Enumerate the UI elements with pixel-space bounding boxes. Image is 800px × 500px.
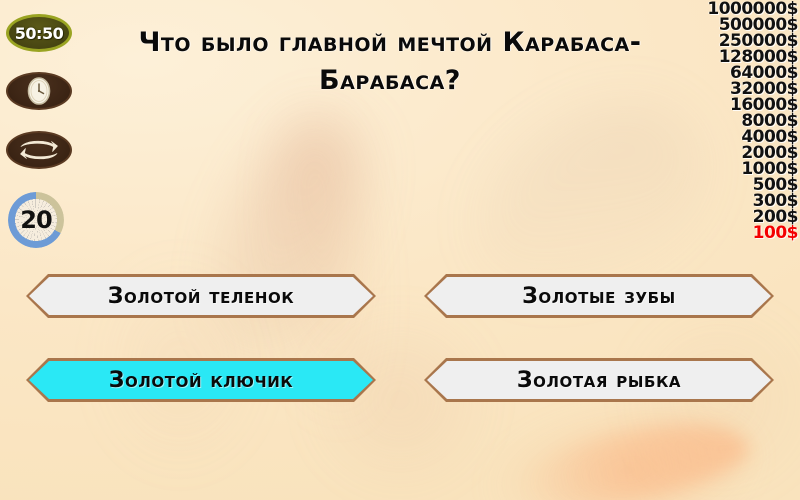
background-swirl (194, 98, 385, 373)
answer-option-a[interactable]: Золотой теленок (26, 274, 376, 318)
answer-option-c[interactable]: Золотой ключик (26, 358, 376, 402)
answer-fill: Золотая рыбка (427, 361, 771, 399)
timer-value: 20 (20, 206, 51, 234)
prize-ladder: 1000000$ 500000$ 250000$ 128000$ 64000$ … (598, 1, 798, 241)
quiz-game-screen: 50:50 20 Что было главной мечтой Карабас… (0, 0, 800, 500)
swap-arrows-icon (15, 136, 63, 164)
clock-icon (22, 75, 56, 107)
answer-label: Золотой теленок (108, 284, 295, 309)
lifeline-fifty-fifty-label: 50:50 (15, 24, 63, 43)
lifeline-fifty-fifty-button[interactable]: 50:50 (6, 14, 72, 52)
question-text: Что было главной мечтой Карабаса-Барабас… (120, 24, 660, 100)
lifeline-change-question-button[interactable] (6, 131, 72, 169)
answer-option-d[interactable]: Золотая рыбка (424, 358, 774, 402)
answer-label: Золотая рыбка (517, 368, 681, 393)
answer-option-b[interactable]: Золотые зубы (424, 274, 774, 318)
answer-fill: Золотой ключик (29, 361, 373, 399)
prize-ladder-item-current[interactable]: 100$ (598, 225, 798, 241)
answer-fill: Золотые зубы (427, 277, 771, 315)
lifeline-extra-time-button[interactable] (6, 72, 72, 110)
answer-fill: Золотой теленок (29, 277, 373, 315)
background-swirl (515, 407, 755, 500)
countdown-timer: 20 (8, 192, 64, 248)
answer-label: Золотой ключик (109, 368, 293, 393)
answer-label: Золотые зубы (522, 284, 676, 309)
